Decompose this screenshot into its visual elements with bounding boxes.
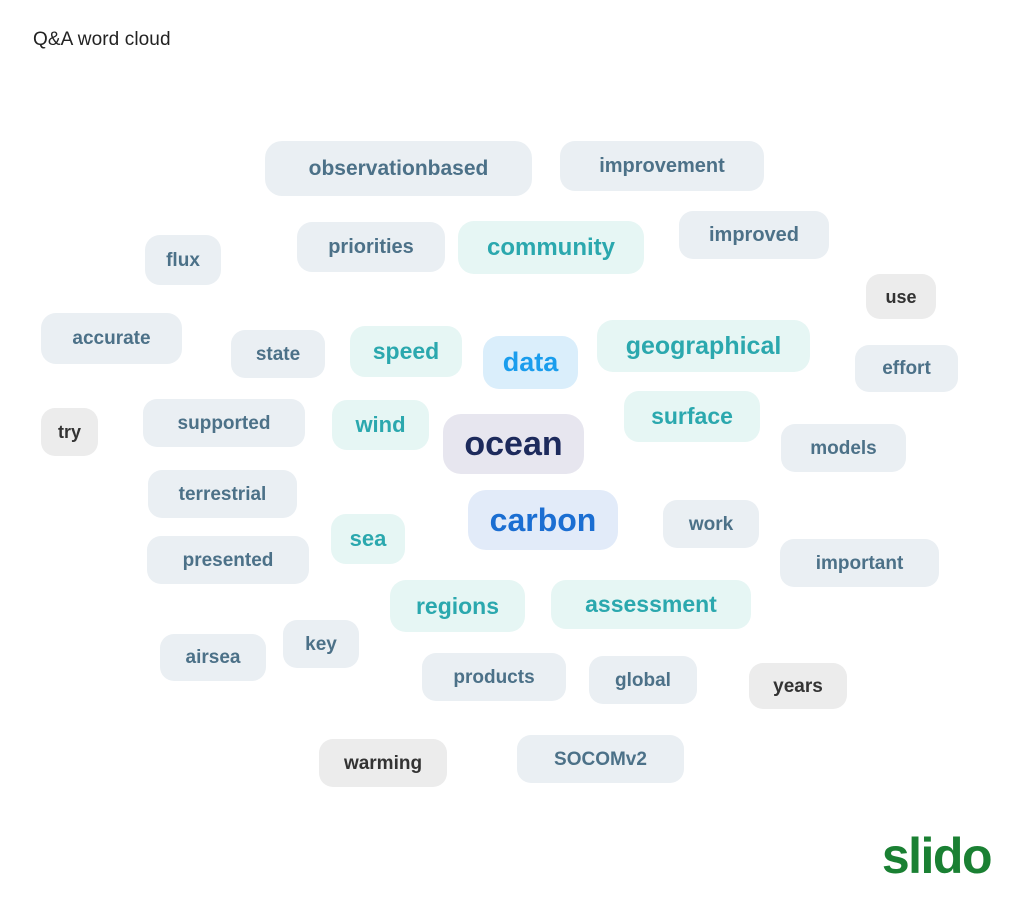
word-pill[interactable]: flux [145, 235, 221, 285]
word-pill[interactable]: regions [390, 580, 525, 632]
word-pill[interactable]: models [781, 424, 906, 472]
word-pill[interactable]: accurate [41, 313, 182, 364]
word-pill[interactable]: priorities [297, 222, 445, 272]
word-pill[interactable]: key [283, 620, 359, 668]
word-pill[interactable]: warming [319, 739, 447, 787]
word-pill[interactable]: use [866, 274, 936, 319]
word-pill[interactable]: assessment [551, 580, 751, 629]
word-pill[interactable]: state [231, 330, 325, 378]
word-pill[interactable]: geographical [597, 320, 810, 372]
word-pill[interactable]: improved [679, 211, 829, 259]
word-pill[interactable]: global [589, 656, 697, 704]
word-pill[interactable]: ocean [443, 414, 584, 474]
word-pill[interactable]: speed [350, 326, 462, 377]
word-pill[interactable]: SOCOMv2 [517, 735, 684, 783]
word-pill[interactable]: presented [147, 536, 309, 584]
slido-logo: slido [882, 831, 991, 881]
word-pill[interactable]: observationbased [265, 141, 532, 196]
word-pill[interactable]: work [663, 500, 759, 548]
word-cloud: oceancarbongeographicaldatacommunityasse… [0, 0, 1024, 830]
word-pill[interactable]: sea [331, 514, 405, 564]
word-pill[interactable]: carbon [468, 490, 618, 550]
word-pill[interactable]: surface [624, 391, 760, 442]
word-pill[interactable]: improvement [560, 141, 764, 191]
word-pill[interactable]: important [780, 539, 939, 587]
word-pill[interactable]: try [41, 408, 98, 456]
word-pill[interactable]: airsea [160, 634, 266, 681]
word-pill[interactable]: terrestrial [148, 470, 297, 518]
word-pill[interactable]: supported [143, 399, 305, 447]
word-pill[interactable]: data [483, 336, 578, 389]
word-pill[interactable]: years [749, 663, 847, 709]
word-pill[interactable]: effort [855, 345, 958, 392]
word-pill[interactable]: products [422, 653, 566, 701]
word-pill[interactable]: community [458, 221, 644, 274]
word-pill[interactable]: wind [332, 400, 429, 450]
